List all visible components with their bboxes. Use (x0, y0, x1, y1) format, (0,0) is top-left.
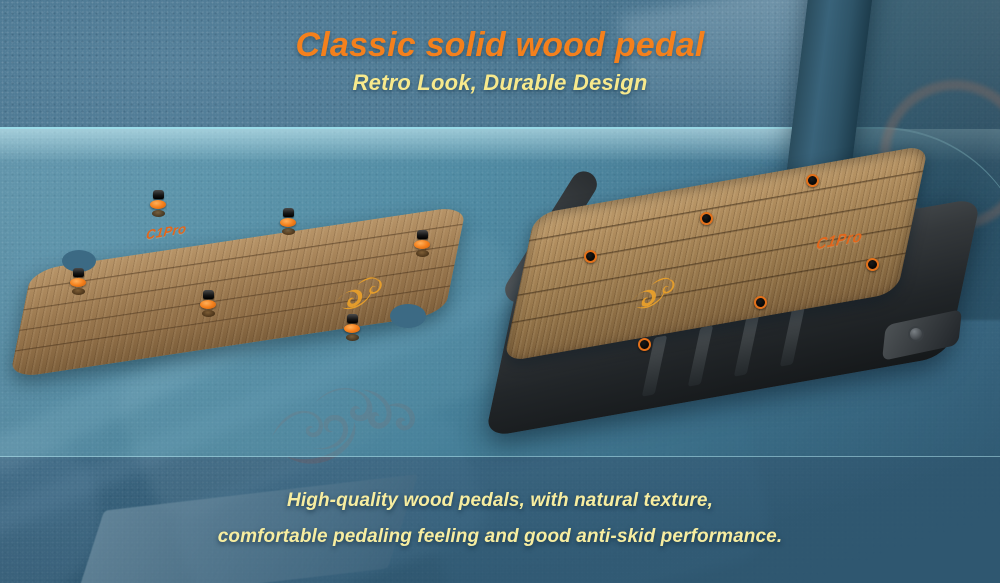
caption-line-2: comfortable pedaling feeling and good an… (0, 519, 1000, 555)
caption-block: High-quality wood pedals, with natural t… (0, 483, 1000, 555)
plank-notch (390, 304, 426, 328)
brand-stamp-left: C1Pro (145, 221, 187, 243)
page-title: Classic solid wood pedal (0, 28, 1000, 64)
product-banner: C1Pro (0, 0, 1000, 583)
right-wood-pedal-mounted: C1Pro (498, 150, 998, 440)
pedal-bolt (150, 190, 166, 216)
pedal-bolt (70, 268, 86, 294)
pedal-screw (806, 174, 819, 187)
caption-line-1: High-quality wood pedals, with natural t… (0, 483, 1000, 519)
pedal-screw (584, 250, 597, 263)
pedal-screw (754, 296, 767, 309)
deck-hinge-bolt (908, 326, 924, 342)
pedal-bolt (200, 290, 216, 316)
pedal-screw (700, 212, 713, 225)
pedal-bolt (414, 230, 430, 256)
pedal-screw (866, 258, 879, 271)
page-subtitle: Retro Look, Durable Design (0, 70, 1000, 96)
left-wood-pedal: C1Pro (18, 192, 458, 392)
pedal-bolt (280, 208, 296, 234)
pedal-bolt (344, 314, 360, 340)
pedal-screw (638, 338, 651, 351)
